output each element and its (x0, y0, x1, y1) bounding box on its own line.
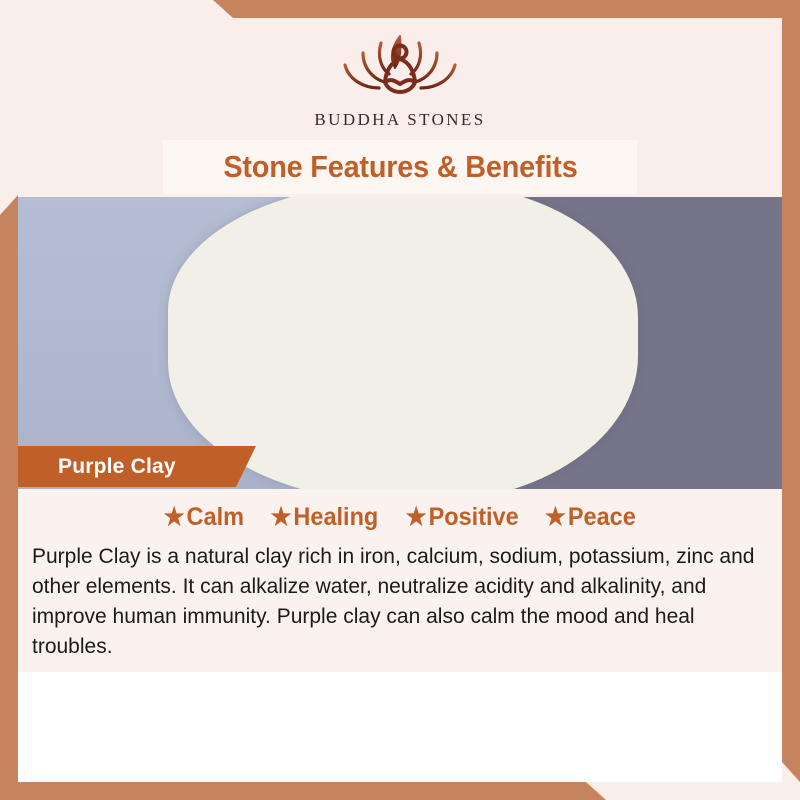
frame-bottom-bar (0, 782, 800, 800)
clay-plate (168, 197, 638, 489)
product-tag-label: Purple Clay (58, 455, 176, 479)
benefit-item: ★ Calm (164, 503, 244, 532)
product-tag: Purple Clay (18, 446, 256, 487)
frame-top-bar (0, 0, 800, 18)
brand-logo: BUDDHA STONES (18, 26, 782, 130)
product-photo (18, 197, 782, 489)
lotus-meditation-icon (315, 26, 485, 106)
benefit-item: ★ Positive (405, 503, 518, 532)
star-icon: ★ (164, 505, 185, 530)
benefits-list: ★ Calm ★ Healing ★ Positive ★ Peace (18, 489, 782, 538)
benefit-label: Calm (187, 503, 244, 532)
frame-right-bar (782, 0, 800, 800)
star-icon: ★ (405, 505, 426, 530)
description-text: Purple Clay is a natural clay rich in ir… (32, 542, 768, 662)
benefit-label: Positive (428, 503, 518, 532)
description-paragraph: Purple Clay is a natural clay rich in ir… (32, 542, 768, 662)
frame-left-bar (0, 0, 18, 800)
benefit-item: ★ Peace (545, 503, 636, 532)
content-panel: ★ Calm ★ Healing ★ Positive ★ Peace Purp… (18, 489, 782, 782)
page-title-band: Stone Features & Benefits (163, 140, 637, 194)
benefit-item: ★ Healing (270, 503, 378, 532)
poster-canvas: BUDDHA STONES Stone Features & Benefits … (0, 0, 800, 800)
page-title: Stone Features & Benefits (223, 149, 577, 185)
star-icon: ★ (270, 505, 291, 530)
brand-wordmark: BUDDHA STONES (314, 110, 485, 130)
benefit-label: Healing (293, 503, 378, 532)
star-icon: ★ (545, 505, 566, 530)
benefit-label: Peace (568, 503, 636, 532)
content-inner: ★ Calm ★ Healing ★ Positive ★ Peace Purp… (18, 489, 782, 672)
content-whitespace (18, 674, 782, 782)
